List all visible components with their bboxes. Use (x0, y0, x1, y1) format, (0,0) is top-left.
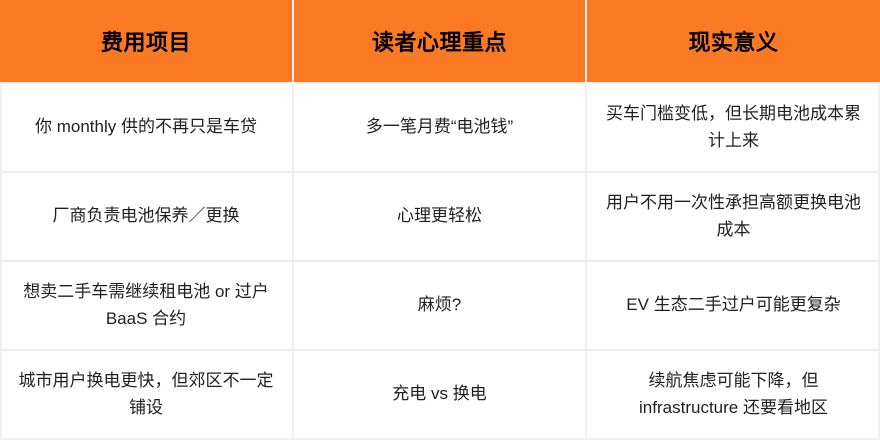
column-header-reader-psychology: 读者心理重点 (293, 0, 586, 83)
cell-cost-item: 想卖二手车需继续租电池 or 过户 BaaS 合约 (0, 261, 293, 350)
table-header: 费用项目 读者心理重点 现实意义 (0, 0, 880, 83)
page-root: 费用项目 读者心理重点 现实意义 你 monthly 供的不再只是车贷 多一笔月… (0, 0, 880, 440)
table-left-border (0, 83, 2, 440)
column-header-real-meaning: 现实意义 (586, 0, 880, 83)
header-row: 费用项目 读者心理重点 现实意义 (0, 0, 880, 83)
cell-real-meaning: 用户不用一次性承担高额更换电池成本 (586, 172, 880, 261)
cell-real-meaning: EV 生态二手过户可能更复杂 (586, 261, 880, 350)
cell-reader-psychology: 充电 vs 换电 (293, 350, 586, 439)
cell-cost-item: 厂商负责电池保养／更换 (0, 172, 293, 261)
cell-reader-psychology: 心理更轻松 (293, 172, 586, 261)
cell-cost-item: 你 monthly 供的不再只是车贷 (0, 83, 293, 172)
table-body: 你 monthly 供的不再只是车贷 多一笔月费“电池钱” 买车门槛变低，但长期… (0, 83, 880, 439)
cost-comparison-table-wrapper: 费用项目 读者心理重点 现实意义 你 monthly 供的不再只是车贷 多一笔月… (0, 0, 880, 440)
cell-reader-psychology: 麻烦? (293, 261, 586, 350)
column-header-cost-item: 费用项目 (0, 0, 293, 83)
table-row: 你 monthly 供的不再只是车贷 多一笔月费“电池钱” 买车门槛变低，但长期… (0, 83, 880, 172)
table-row: 城市用户换电更快，但郊区不一定铺设 充电 vs 换电 续航焦虑可能下降，但 in… (0, 350, 880, 439)
cell-real-meaning: 续航焦虑可能下降，但 infrastructure 还要看地区 (586, 350, 880, 439)
cost-comparison-table: 费用项目 读者心理重点 现实意义 你 monthly 供的不再只是车贷 多一笔月… (0, 0, 880, 440)
table-row: 想卖二手车需继续租电池 or 过户 BaaS 合约 麻烦? EV 生态二手过户可… (0, 261, 880, 350)
cell-cost-item: 城市用户换电更快，但郊区不一定铺设 (0, 350, 293, 439)
cell-reader-psychology: 多一笔月费“电池钱” (293, 83, 586, 172)
cell-real-meaning: 买车门槛变低，但长期电池成本累计上来 (586, 83, 880, 172)
table-row: 厂商负责电池保养／更换 心理更轻松 用户不用一次性承担高额更换电池成本 (0, 172, 880, 261)
